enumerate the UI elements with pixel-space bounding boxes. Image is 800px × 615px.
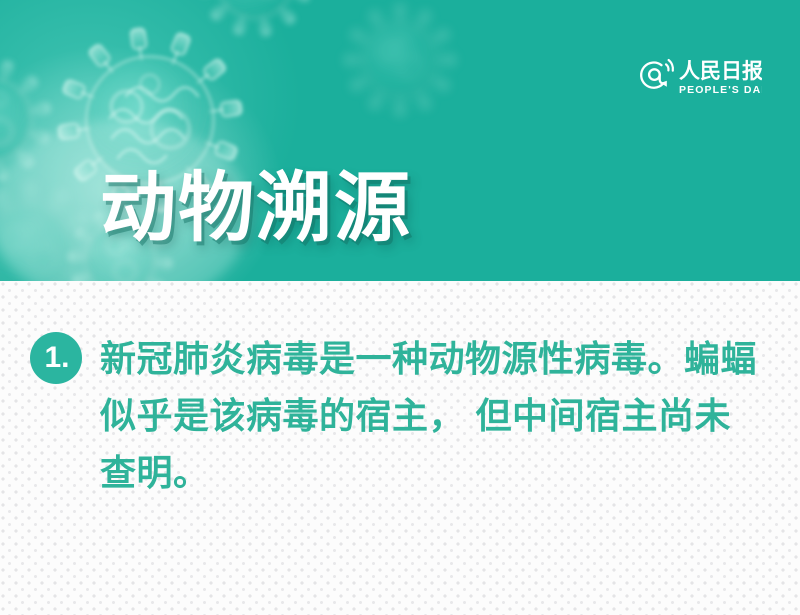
item-line-3: 查明。 — [100, 444, 780, 501]
item-body-text: 新冠肺炎病毒是一种动物源性病毒。蝙蝠 似乎是该病毒的宿主， 但中间宿主尚未 查明… — [100, 330, 780, 501]
poster-body: 1. 新冠肺炎病毒是一种动物源性病毒。蝙蝠 似乎是该病毒的宿主， 但中间宿主尚未… — [0, 281, 800, 615]
logo-brand-en: PEOPLE'S DAILY — [679, 84, 762, 96]
page-title: 动物溯源 — [100, 166, 412, 252]
logo-brand-cn: 人民日报 — [679, 59, 762, 83]
at-signal-logo[interactable]: 人民日报 PEOPLE'S DAILY — [634, 52, 762, 98]
infographic-poster: 人民日报 PEOPLE'S DAILY 动物溯源 1. 新冠肺炎病毒是一种动物源… — [0, 0, 800, 615]
item-line-1: 新冠肺炎病毒是一种动物源性病毒。蝙蝠 — [100, 330, 780, 387]
poster-header: 人民日报 PEOPLE'S DAILY 动物溯源 — [0, 0, 800, 281]
item-number-badge: 1. — [30, 332, 82, 384]
item-line-2: 似乎是该病毒的宿主， 但中间宿主尚未 — [100, 387, 780, 444]
